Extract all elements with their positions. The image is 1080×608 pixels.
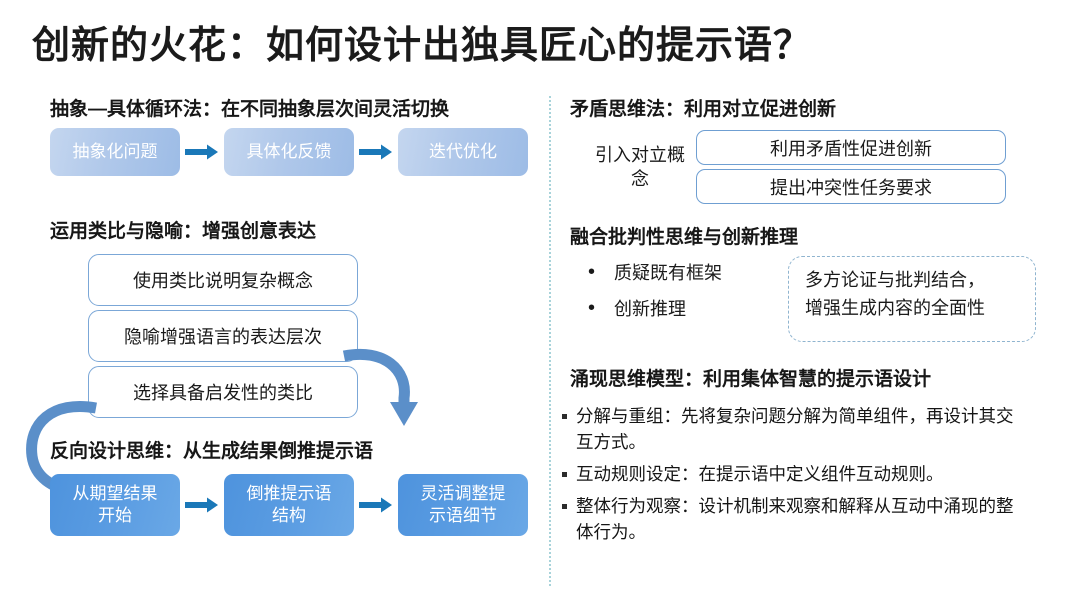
arrow-right-icon [180, 144, 224, 160]
arrow-right-icon [180, 497, 224, 513]
list-item: 互动规则设定：在提示语中定义组件互动规则。 [562, 462, 1028, 488]
left-section1-heading: 抽象—具体循环法：在不同抽象层次间灵活切换 [50, 94, 449, 121]
contradiction-box-1[interactable]: 利用矛盾性促进创新 [696, 130, 1006, 165]
right-column: 矛盾思维法：利用对立促进创新 引入对立概 念 利用矛盾性促进创新 提出冲突性任务… [562, 92, 1072, 592]
list-item: 整体行为观察：设计机制来观察和解释从互动中涌现的整体行为。 [562, 494, 1028, 546]
flow-step-2[interactable]: 具体化反馈 [224, 128, 354, 176]
flow-step-1[interactable]: 抽象化问题 [50, 128, 180, 176]
contradiction-pair-group: 引入对立概 念 利用矛盾性促进创新 提出冲突性任务要求 [584, 130, 1006, 204]
analogy-box-3[interactable]: 选择具备启发性的类比 [88, 366, 358, 418]
contradiction-box-stack: 利用矛盾性促进创新 提出冲突性任务要求 [696, 130, 1006, 204]
reverse-step-3[interactable]: 灵活调整提 示语细节 [398, 474, 528, 536]
left-section3-heading: 反向设计思维：从生成结果倒推提示语 [50, 436, 373, 463]
right-section3-heading: 涌现思维模型：利用集体智慧的提示语设计 [570, 364, 931, 391]
arrow-right-icon [354, 497, 398, 513]
critical-thinking-callout: 多方论证与批判结合， 增强生成内容的全面性 [788, 256, 1036, 342]
emergent-thinking-list: 分解与重组：先将复杂问题分解为简单组件，再设计其交互方式。 互动规则设定：在提示… [562, 404, 1028, 551]
arrow-right-icon [354, 144, 398, 160]
curved-arrow-right-down-icon [340, 344, 420, 444]
critical-thinking-bullet-list: 质疑既有框架 创新推理 [576, 264, 786, 336]
analogy-cycle-group: 使用类比说明复杂概念 隐喻增强语言的表达层次 选择具备启发性的类比 [0, 252, 420, 432]
analogy-box-2[interactable]: 隐喻增强语言的表达层次 [88, 310, 358, 362]
reverse-design-flow: 从期望结果 开始 倒推提示语 结构 灵活调整提 示语细节 [50, 474, 528, 536]
analogy-box-1[interactable]: 使用类比说明复杂概念 [88, 254, 358, 306]
contradiction-label: 引入对立概 念 [584, 143, 696, 192]
list-item: 创新推理 [576, 300, 786, 318]
right-section2-heading: 融合批判性思维与创新推理 [570, 222, 798, 249]
left-column: 抽象—具体循环法：在不同抽象层次间灵活切换 抽象化问题 具体化反馈 迭代优化 运… [0, 92, 540, 592]
column-divider [549, 96, 551, 586]
reverse-step-1[interactable]: 从期望结果 开始 [50, 474, 180, 536]
flow-step-3[interactable]: 迭代优化 [398, 128, 528, 176]
page-title: 创新的火花：如何设计出独具匠心的提示语？ [32, 14, 812, 69]
reverse-step-2[interactable]: 倒推提示语 结构 [224, 474, 354, 536]
abstract-concrete-flow: 抽象化问题 具体化反馈 迭代优化 [50, 128, 528, 176]
list-item: 质疑既有框架 [576, 264, 786, 282]
right-section1-heading: 矛盾思维法：利用对立促进创新 [570, 94, 836, 121]
contradiction-box-2[interactable]: 提出冲突性任务要求 [696, 169, 1006, 204]
list-item: 分解与重组：先将复杂问题分解为简单组件，再设计其交互方式。 [562, 404, 1028, 456]
left-section2-heading: 运用类比与隐喻：增强创意表达 [50, 216, 316, 243]
